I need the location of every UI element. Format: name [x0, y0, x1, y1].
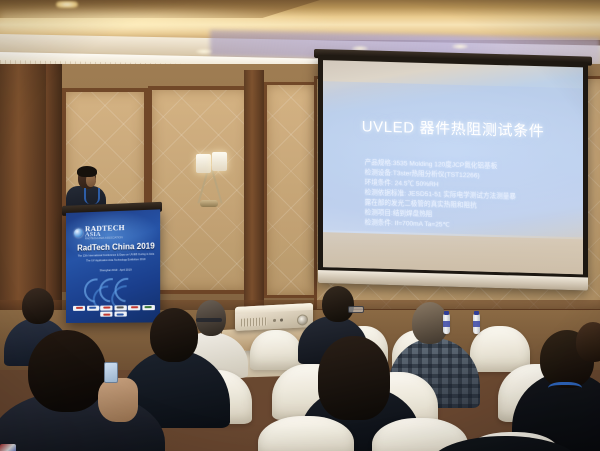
- podium-banner: RADTECH ASIA RADTECH ASIA ASSOCIATION Ra…: [66, 209, 160, 323]
- projector-device: [235, 303, 313, 331]
- chair-back-1: [250, 330, 302, 370]
- ceiling-downlight-icon: [196, 49, 212, 54]
- sponsor-logo-1: [73, 305, 85, 310]
- attendee-farright-head: [576, 322, 600, 362]
- globe-icon: [74, 229, 83, 238]
- attendee-hand: [98, 378, 138, 422]
- sconce-shade-left: [196, 154, 211, 173]
- attendee-farleft-head: [22, 288, 54, 324]
- projector-indicator: [280, 319, 283, 322]
- projector-lens-icon: [297, 314, 308, 326]
- flag-pin-icon: [0, 444, 16, 451]
- podium-rings-graphic: [84, 275, 148, 302]
- podium-date-line: Shanghai 2019 · April 2019: [73, 268, 159, 273]
- eyeglasses-icon: [348, 306, 364, 313]
- sponsor-logo-2: [87, 305, 99, 310]
- sconce-shade-right: [212, 152, 227, 171]
- water-bottle-1: [443, 314, 450, 334]
- screen-surface: UVLED 器件热阻测试条件 产品规格:3535 Molding 120度JCP…: [323, 60, 583, 274]
- wall-panel-3: [264, 82, 318, 298]
- projector-vent: [241, 317, 267, 326]
- attendee-phone-head: [28, 330, 106, 412]
- slide-title: UVLED 器件热阻测试条件: [323, 114, 583, 142]
- projection-screen: UVLED 器件热阻测试条件 产品规格:3535 Molding 120度JCP…: [318, 55, 588, 291]
- speaker-hair: [77, 166, 97, 177]
- sponsor-logo-6: [142, 304, 155, 309]
- slide-body: 产品规格:3535 Molding 120度JCP氮化铝基板 检测设备:T3st…: [365, 159, 568, 235]
- radtech-asia-logo: RADTECH ASIA RADTECH ASIA ASSOCIATION: [74, 224, 125, 241]
- conference-room-photo: UVLED 器件热阻测试条件 产品规格:3535 Molding 120度JCP…: [0, 0, 600, 451]
- water-bottle-2: [473, 314, 480, 334]
- sponsor-logo-8: [114, 311, 126, 316]
- attendee-longhair-head: [318, 336, 390, 420]
- attendee-center-head: [150, 308, 198, 362]
- sponsor-logo-3: [100, 305, 112, 310]
- sponsor-logo-4: [114, 305, 126, 310]
- sponsor-logo-7: [100, 312, 112, 317]
- smartphone-icon: [104, 362, 118, 383]
- attendee-glasses-head: [322, 286, 354, 322]
- projector-indicator: [273, 319, 276, 322]
- ceiling-downlight-icon: [452, 44, 468, 49]
- sponsor-logo-5: [128, 305, 140, 310]
- screen-lower-band: [323, 232, 583, 274]
- sunglasses-icon: [196, 318, 222, 322]
- cove-lamp-icon: [56, 1, 78, 8]
- podium-sponsor-strip: [71, 304, 157, 317]
- cove-light-glow: [0, 6, 600, 32]
- lanyard-strap: [548, 382, 582, 397]
- sconce-base: [200, 200, 218, 207]
- speaker-lanyard: [84, 188, 100, 204]
